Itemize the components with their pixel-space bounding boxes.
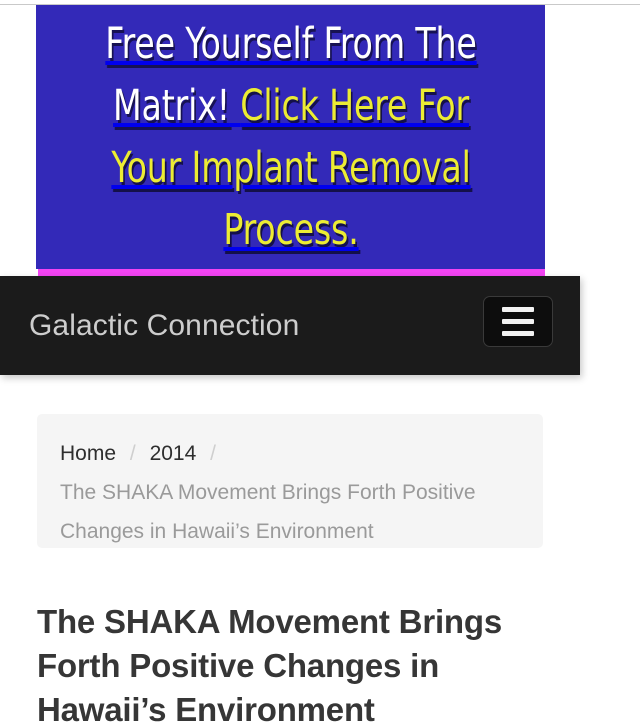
page-root: Free Yourself From The Matrix! Click Her… [0, 0, 640, 727]
breadcrumb-upper-row: Home / 2014 / [60, 434, 521, 473]
page-title: The SHAKA Movement Brings Forth Positive… [37, 600, 557, 727]
breadcrumb-item-2014[interactable]: 2014 [150, 442, 197, 465]
breadcrumb-separator: / [122, 442, 144, 465]
promo-banner-text: Free Yourself From The Matrix! Click Her… [85, 13, 496, 261]
hamburger-bar-top [502, 307, 534, 312]
promo-banner-accent-bar [38, 269, 545, 276]
hamburger-bar-bottom [502, 331, 534, 336]
breadcrumb-item-current: The SHAKA Movement Brings Forth Positive… [60, 473, 521, 551]
site-brand-link[interactable]: Galactic Connection [29, 276, 299, 375]
hamburger-menu-icon[interactable] [483, 296, 553, 347]
breadcrumb-separator: / [202, 442, 224, 465]
breadcrumb-item-home[interactable]: Home [60, 442, 116, 465]
promo-banner[interactable]: Free Yourself From The Matrix! Click Her… [36, 5, 545, 269]
breadcrumb: Home / 2014 / The SHAKA Movement Brings … [37, 414, 543, 548]
hamburger-bar-middle [502, 319, 534, 324]
